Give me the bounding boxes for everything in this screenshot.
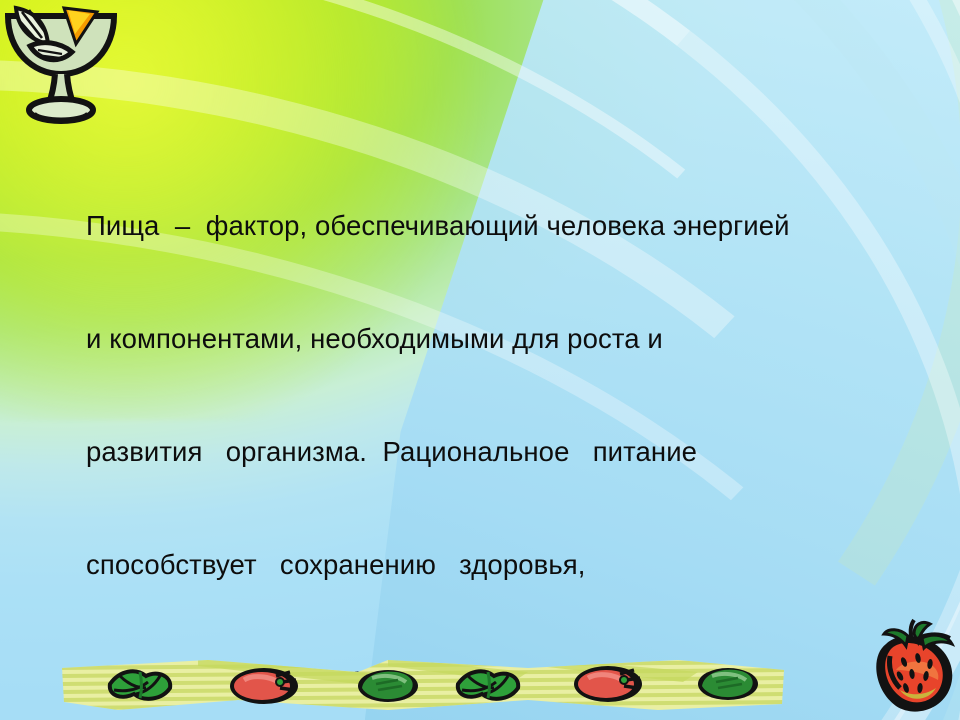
slide-body-text: Пища – фактор, обеспечивающий человека э… [86,132,918,720]
goblet-fruit-cocktail-icon [2,2,120,126]
cucumber-icon [698,668,758,700]
tomato-icon [574,666,642,702]
strawberry-icon [866,618,960,718]
slide-canvas: Пища – фактор, обеспечивающий человека э… [0,0,960,720]
tomato-icon [230,668,298,704]
herb-sprig-icon [458,671,518,698]
body-line: способствует сохранению здоровья, [86,546,918,584]
herb-sprig-icon [110,671,170,698]
body-line: развития организма. Рациональное питание [86,433,918,471]
vegetable-banner [58,652,788,718]
body-line: Пища – фактор, обеспечивающий человека э… [86,207,918,245]
cucumber-icon [358,670,418,702]
body-line: и компонентами, необходимыми для роста и [86,320,918,358]
